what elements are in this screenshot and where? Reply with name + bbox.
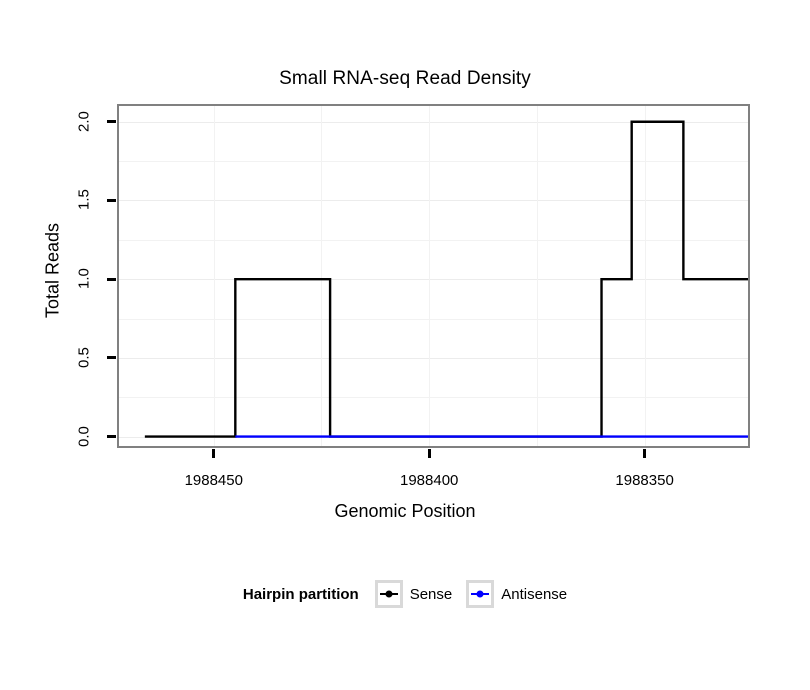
y-tick-mark [107, 356, 116, 359]
data-series-layer [119, 106, 748, 446]
y-tick-label: 0.5 [67, 332, 101, 384]
y-tick-label: 2.0 [67, 96, 101, 148]
y-tick-mark [107, 120, 116, 123]
x-tick-label: 1988350 [585, 472, 705, 489]
legend-items: SenseAntisense [375, 580, 567, 608]
legend: Hairpin partition SenseAntisense [0, 580, 810, 608]
y-tick-mark [107, 278, 116, 281]
plot-area [119, 106, 748, 446]
x-tick-mark [212, 449, 215, 458]
legend-key-dot [477, 591, 484, 598]
y-tick-label: 1.0 [67, 253, 101, 305]
y-tick-mark [107, 199, 116, 202]
legend-item-antisense[interactable]: Antisense [466, 580, 567, 608]
x-tick-label: 1988450 [154, 472, 274, 489]
legend-item-sense[interactable]: Sense [375, 580, 453, 608]
y-tick-mark [107, 435, 116, 438]
x-tick-mark [428, 449, 431, 458]
chart-root: Small RNA-seq Read Density Total Reads 0… [0, 0, 810, 690]
legend-title: Hairpin partition [243, 586, 359, 603]
legend-key-dot [385, 591, 392, 598]
x-tick-mark [643, 449, 646, 458]
y-tick-label: 0.0 [67, 411, 101, 463]
x-tick-label: 1988400 [369, 472, 489, 489]
plot-panel [117, 104, 750, 448]
x-axis-title: Genomic Position [0, 501, 810, 522]
legend-label: Sense [410, 586, 453, 603]
y-tick-label: 1.5 [67, 174, 101, 226]
series-line-sense [145, 122, 748, 437]
legend-label: Antisense [501, 586, 567, 603]
legend-key-sense-icon [375, 580, 403, 608]
page-title: Small RNA-seq Read Density [0, 68, 810, 90]
legend-key-antisense-icon [466, 580, 494, 608]
y-axis-title: Total Reads [38, 180, 68, 360]
